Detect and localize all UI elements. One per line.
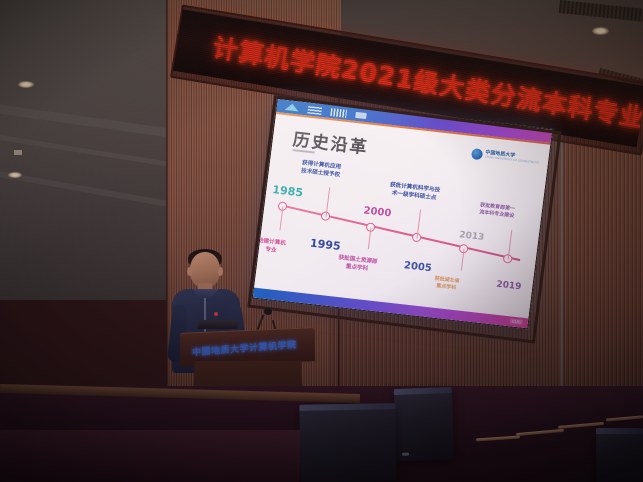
laptop xyxy=(197,320,239,329)
loudspeaker-top xyxy=(596,428,643,434)
university-logo-text: 中国地质大学 CHINA UNIVERSITY OF GEOSCIENCES xyxy=(485,151,540,166)
downlight-icon xyxy=(592,27,609,35)
ceiling-light-glint xyxy=(14,150,22,155)
timeline-caption-2013: 获批湖北省 重点学科 xyxy=(433,276,460,292)
ear-left xyxy=(187,267,192,276)
timeline-caption-2005: 获批计算机科学与技 术一级学科硕士点 xyxy=(388,182,440,203)
lecture-hall-photo: 计算机学院2021级大类分流本科专业介绍会 历史沿革 中国地质大学 CHINA … xyxy=(0,0,643,482)
university-logo: 中国地质大学 CHINA UNIVERSITY OF GEOSCIENCES xyxy=(470,148,539,167)
timeline-caption-1985: 始建计算机 专业 xyxy=(256,238,286,256)
loudspeaker-logo xyxy=(402,453,409,456)
university-seal-icon xyxy=(470,148,482,160)
timeline-year-2013: 2013 xyxy=(459,230,485,243)
timeline-year-2000: 2000 xyxy=(363,205,392,219)
slide-footer-badge: CUG xyxy=(510,318,523,324)
timeline-caption-2019: 获批教育部第一 流本科专业建设 xyxy=(479,202,515,219)
presentation-slide: 历史沿革 中国地质大学 CHINA UNIVERSITY OF GEOSCIEN… xyxy=(253,99,552,328)
microphone-icon xyxy=(264,308,272,315)
lines-icon xyxy=(307,105,322,114)
ceiling-left-panel xyxy=(0,0,175,300)
timeline-caption-2000: 获批国土资源部 重点学科 xyxy=(337,255,378,274)
projection-screen: 历史沿革 中国地质大学 CHINA UNIVERSITY OF GEOSCIEN… xyxy=(252,98,554,329)
mountain-icon xyxy=(285,103,300,112)
loudspeaker xyxy=(394,387,454,461)
loudspeaker xyxy=(596,428,643,482)
ear-right xyxy=(218,267,223,276)
university-name-en: CHINA UNIVERSITY OF GEOSCIENCES xyxy=(485,156,539,165)
slide-title: 历史沿革 xyxy=(292,125,371,158)
downlight-icon xyxy=(8,172,22,178)
lapel-pin-icon xyxy=(214,312,218,316)
loudspeaker-top xyxy=(394,387,452,395)
bars-icon xyxy=(330,108,347,118)
timeline-year-2005: 2005 xyxy=(403,260,432,274)
loudspeaker xyxy=(299,403,396,482)
loudspeaker-top xyxy=(299,403,395,411)
downlight-icon xyxy=(18,81,34,88)
timeline-year-1995: 1995 xyxy=(309,237,341,253)
timeline-year-1985: 1985 xyxy=(272,183,304,199)
chip-icon xyxy=(355,111,367,118)
timeline-year-2019: 2019 xyxy=(496,280,522,293)
seating-row xyxy=(0,430,300,482)
timeline-caption-1995: 获得计算机应用 技术硕士授予权 xyxy=(301,160,342,179)
